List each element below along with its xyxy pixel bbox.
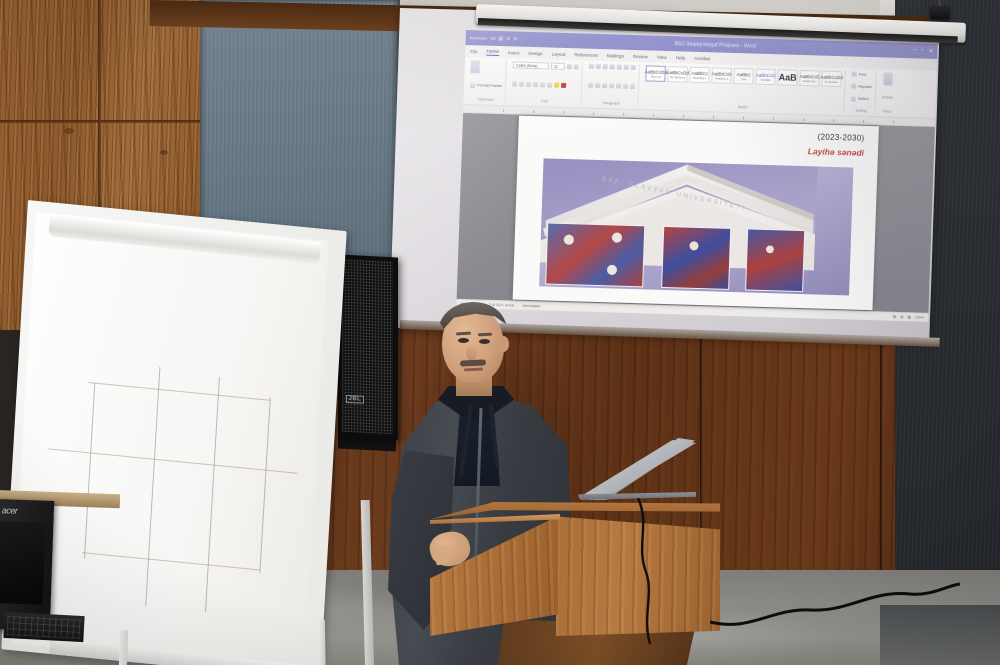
podium-face-right [556,506,720,636]
autosave-toggle: Off [490,36,495,41]
font-size-input[interactable]: 11 [551,63,565,70]
redo-icon[interactable]: ↻ [513,36,517,42]
strikethrough-icon[interactable] [533,82,538,87]
bullets-icon[interactable] [589,64,594,69]
presenter-eye-left [458,338,469,343]
tab-insert[interactable]: Insert [508,50,520,55]
ribbon-group-clipboard[interactable]: Format Painter Clipboard [466,59,507,103]
projection-screen: AutoSave Off ▤ ↺ ↻ BSU Strateji İnkişaf … [398,2,948,332]
tab-view[interactable]: View [657,54,667,59]
select-label[interactable]: Select [858,97,869,101]
paste-icon[interactable] [470,60,479,73]
web-layout-icon[interactable]: ▦ [908,315,912,319]
keyboard-keys [7,615,82,639]
ribbon-group-editing[interactable]: Find Replace Select Editing [847,70,876,114]
align-right-icon[interactable] [602,83,607,88]
group-label-editing: Editing [850,108,871,113]
zoom-level[interactable]: 100% [915,315,924,319]
subscript-icon[interactable] [540,82,545,87]
tab-references[interactable]: References [574,52,598,58]
dictate-label[interactable]: Dictate [882,95,893,99]
ribbon-group-styles[interactable]: AaBbCcDd Normal AaBbCcDd No Spacing AaBb… [642,64,846,113]
tab-review[interactable]: Review [633,53,648,58]
style-subtitle[interactable]: AaBbCcD Subtitle [755,69,776,86]
style-title[interactable]: AaBbC Title [733,68,754,85]
minimize-icon[interactable]: – [913,47,917,54]
document-canvas[interactable]: (2023-2030) Layihə sənədi [457,113,935,313]
cut-icon[interactable] [470,83,475,88]
justify-icon[interactable] [609,83,614,88]
undo-icon[interactable]: ↺ [506,36,510,42]
style-heading-2[interactable]: AaBbCcD Heading 2 [711,67,732,84]
replace-label[interactable]: Replace [858,84,872,88]
document-years: (2023-2030) [817,132,864,142]
read-mode-icon[interactable]: ▤ [893,315,897,319]
window-controls[interactable]: – ▫ ✕ [913,47,934,55]
manuscript-panel-3 [745,228,805,292]
flipchart-leg-right [318,620,329,665]
format-painter-label[interactable]: Format Painter [477,83,502,88]
ribbon-group-font[interactable]: Calibri (Body) 11 [509,60,583,105]
presenter-ear [498,336,509,352]
bold-icon[interactable] [512,81,517,86]
underline-icon[interactable] [526,81,531,86]
quick-access-toolbar[interactable]: AutoSave Off ▤ ↺ ↻ [470,35,518,42]
ribbon-group-paragraph[interactable]: Paragraph [585,63,640,108]
group-label-paragraph: Paragraph [588,101,635,106]
find-label[interactable]: Find [859,72,867,76]
align-center-icon[interactable] [595,82,600,87]
line-spacing-icon[interactable] [616,83,621,88]
close-icon[interactable]: ✕ [928,48,933,55]
text-highlight-icon[interactable] [554,82,559,87]
style-emphasis[interactable]: AaBbCcD Subtle Em [799,70,820,87]
projected-word-window[interactable]: AutoSave Off ▤ ↺ ↻ BSU Strateji İnkişaf … [456,30,938,322]
group-label-font: Font [512,98,578,104]
increase-indent-icon[interactable] [617,64,622,69]
computer-keyboard [3,612,84,642]
tab-home[interactable]: Home [487,48,500,55]
decrease-indent-icon[interactable] [610,64,615,69]
numbering-icon[interactable] [596,64,601,69]
flipchart-drawing [32,320,311,645]
podium-face-left [430,516,558,636]
replace-icon[interactable] [851,84,856,89]
style-no-spacing[interactable]: AaBbCcDd No Spacing [667,66,688,83]
tab-file[interactable]: File [470,49,478,54]
style-intense[interactable]: AaBbCcDd Emphasis [821,71,842,88]
align-left-icon[interactable] [588,82,593,87]
ribbon-group-voice[interactable]: Dictate Voice [878,71,897,114]
group-label-clipboard: Clipboard [470,97,502,102]
flipchart-easel[interactable] [20,200,365,665]
presenter-nose [466,344,477,361]
conference-room-scene: AutoSave Off ▤ ↺ ↻ BSU Strateji İnkişaf … [0,0,1000,665]
styles-gallery[interactable]: AaBbCcDd Normal AaBbCcDd No Spacing AaBb… [645,65,841,87]
style-heading-1[interactable]: AaBbCc Heading 1 [689,67,710,84]
find-icon[interactable] [852,71,857,76]
style-normal[interactable]: AaBbCcDd Normal [645,65,666,82]
presenter-eye-right [479,339,490,344]
tab-layout[interactable]: Layout [552,51,566,56]
document-photo: BAKI SLAVYAN UNİVERSİTETİ [539,158,853,295]
autosave-label: AutoSave [470,35,488,41]
tab-mailings[interactable]: Mailings [607,53,624,58]
wooden-podium [430,500,720,665]
show-marks-icon[interactable] [631,65,636,70]
document-subtitle: Layihə sənədi [808,146,865,158]
borders-icon[interactable] [630,83,635,88]
italic-icon[interactable] [519,81,524,86]
superscript-icon[interactable] [547,82,552,87]
grow-font-icon[interactable] [567,64,572,69]
floor-cable [710,574,960,634]
sort-icon[interactable] [624,65,629,70]
manuscript-panel-1 [545,222,645,287]
document-page[interactable]: (2023-2030) Layihə sənədi [513,116,879,311]
shrink-font-icon[interactable] [574,64,579,69]
monitor-screen [0,521,45,605]
presenter-eyebrow-right [478,333,492,336]
dictate-icon[interactable] [883,72,892,85]
font-name-input[interactable]: Calibri (Body) [513,61,549,69]
style-subtle-emphasis[interactable]: AaB [777,69,798,86]
tab-help[interactable]: Help [676,55,686,60]
acer-logo: acer [2,505,18,516]
shading-icon[interactable] [623,83,628,88]
maximize-icon[interactable]: ▫ [921,48,923,55]
select-icon[interactable] [851,96,856,101]
manuscript-panel-2 [661,226,731,290]
multilevel-list-icon[interactable] [603,64,608,69]
tab-acrobat[interactable]: Acrobat [694,55,710,60]
group-label-voice: Voice [881,109,892,113]
print-layout-icon[interactable]: ▥ [900,315,904,319]
save-icon[interactable]: ▤ [498,35,503,41]
font-color-icon[interactable] [561,82,566,87]
tab-design[interactable]: Design [528,50,542,55]
